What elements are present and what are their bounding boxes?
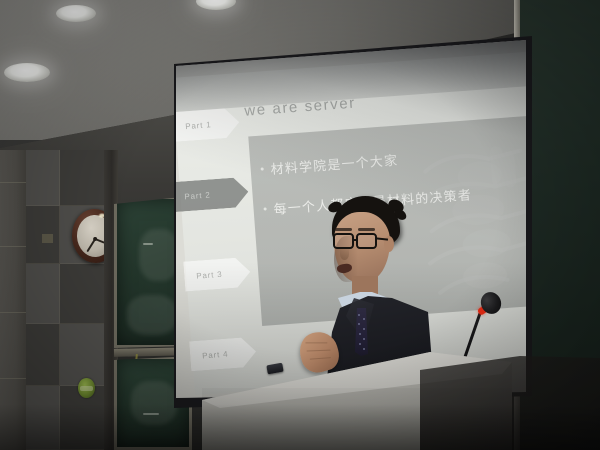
presenter-eyebrow-right <box>358 228 375 231</box>
lectern-shadow <box>420 356 600 450</box>
bullet-dot-icon <box>261 167 264 170</box>
presenter-nose <box>340 248 349 260</box>
downlight-left-lower-icon <box>4 63 50 82</box>
presenter-eyebrow-left <box>335 228 352 231</box>
downlight-left-upper-icon <box>56 5 96 22</box>
slide-part-tab-3-label: Part 3 <box>196 269 223 280</box>
green-wall-sticker <box>78 378 95 398</box>
slide-part-tab-4-label: Part 4 <box>202 349 229 360</box>
glasses-bridge <box>354 239 357 241</box>
glasses-icon <box>356 233 377 249</box>
bullet-dot-icon <box>263 207 266 210</box>
wall-plate <box>42 234 53 243</box>
slide-part-tab-2-label: Part 2 <box>184 190 211 201</box>
glasses-icon <box>333 233 354 249</box>
necktie-pattern <box>355 310 368 354</box>
slide-part-tab-1-label: Part 1 <box>185 120 212 131</box>
lecture-hall-photo: we are server 材料学院是一个大家 每一个人都应该是材料的决策者 P… <box>0 0 600 450</box>
wall-pillar <box>0 150 26 450</box>
